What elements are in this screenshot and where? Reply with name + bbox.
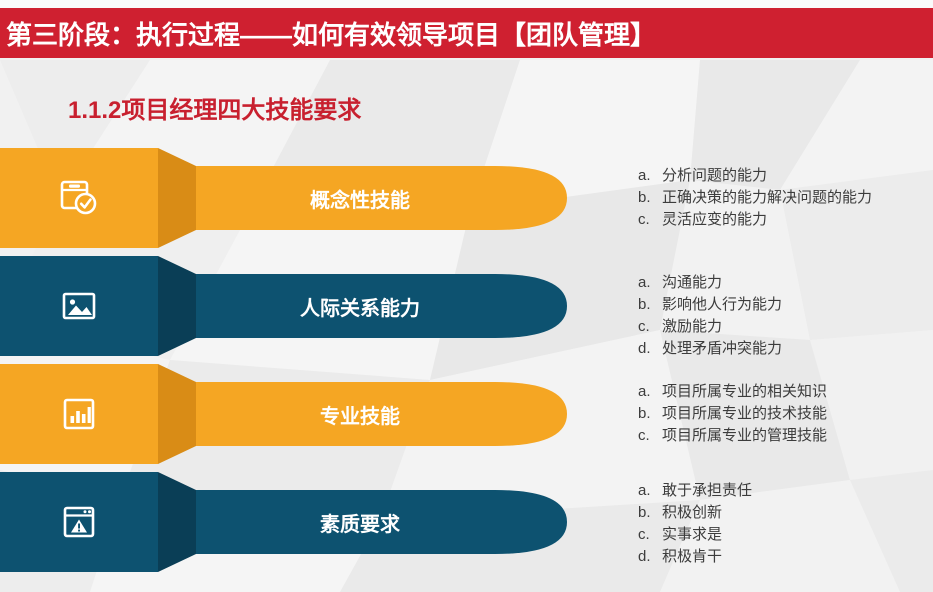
list-text: 影响他人行为能力 bbox=[662, 294, 782, 316]
bullet-list-conceptual: a. 分析问题的能力 b. 正确决策的能力解决问题的能力 c. 灵活应变的能力 bbox=[638, 165, 872, 231]
list-marker: b. bbox=[638, 403, 662, 425]
window-warning-icon bbox=[59, 502, 99, 542]
list-text: 积极创新 bbox=[662, 502, 722, 524]
list-item: b. 积极创新 bbox=[638, 502, 752, 524]
fold-professional bbox=[158, 364, 196, 464]
icon-block-interpersonal[interactable] bbox=[0, 256, 158, 356]
list-marker: c. bbox=[638, 316, 662, 338]
list-text: 沟通能力 bbox=[662, 272, 722, 294]
bullet-list-professional: a. 项目所属专业的相关知识 b. 项目所属专业的技术技能 c. 项目所属专业的… bbox=[638, 381, 827, 447]
list-marker: c. bbox=[638, 524, 662, 546]
sub-heading: 1.1.2项目经理四大技能要求 bbox=[68, 90, 361, 125]
icon-block-conceptual[interactable] bbox=[0, 148, 158, 248]
slide-canvas: 第三阶段：执行过程——如何有效领导项目【团队管理】 1.1.2项目经理四大技能要… bbox=[0, 0, 933, 592]
list-item: b. 影响他人行为能力 bbox=[638, 294, 782, 316]
list-text: 实事求是 bbox=[662, 524, 722, 546]
list-marker: b. bbox=[638, 502, 662, 524]
list-text: 积极肯干 bbox=[662, 546, 722, 568]
list-text: 项目所属专业的技术技能 bbox=[662, 403, 827, 425]
list-marker: a. bbox=[638, 381, 662, 403]
icon-block-professional[interactable] bbox=[0, 364, 158, 464]
list-text: 项目所属专业的相关知识 bbox=[662, 381, 827, 403]
list-marker: a. bbox=[638, 480, 662, 502]
list-item: c. 项目所属专业的管理技能 bbox=[638, 425, 827, 447]
list-item: a. 敢于承担责任 bbox=[638, 480, 752, 502]
skill-label-interpersonal: 人际关系能力 bbox=[195, 274, 525, 338]
list-marker: b. bbox=[638, 294, 662, 316]
list-text: 正确决策的能力解决问题的能力 bbox=[662, 187, 872, 209]
list-text: 激励能力 bbox=[662, 316, 722, 338]
bullet-list-interpersonal: a. 沟通能力 b. 影响他人行为能力 c. 激励能力 d. 处理矛盾冲突能力 bbox=[638, 272, 782, 360]
list-item: c. 灵活应变的能力 bbox=[638, 209, 872, 231]
skill-label-conceptual: 概念性技能 bbox=[195, 166, 525, 230]
list-marker: d. bbox=[638, 546, 662, 568]
list-item: a. 沟通能力 bbox=[638, 272, 782, 294]
image-picture-icon bbox=[59, 286, 99, 326]
bullet-list-quality: a. 敢于承担责任 b. 积极创新 c. 实事求是 d. 积极肯干 bbox=[638, 480, 752, 568]
list-item: c. 实事求是 bbox=[638, 524, 752, 546]
list-item: b. 正确决策的能力解决问题的能力 bbox=[638, 187, 872, 209]
bar-chart-icon bbox=[59, 394, 99, 434]
document-clock-icon bbox=[59, 178, 99, 218]
list-text: 敢于承担责任 bbox=[662, 480, 752, 502]
fold-conceptual bbox=[158, 148, 196, 248]
fold-interpersonal bbox=[158, 256, 196, 356]
list-text: 处理矛盾冲突能力 bbox=[662, 338, 782, 360]
list-marker: a. bbox=[638, 272, 662, 294]
list-text: 项目所属专业的管理技能 bbox=[662, 425, 827, 447]
list-marker: b. bbox=[638, 187, 662, 209]
list-text: 灵活应变的能力 bbox=[662, 209, 767, 231]
skill-label-professional: 专业技能 bbox=[195, 382, 525, 446]
list-text: 分析问题的能力 bbox=[662, 165, 767, 187]
list-item: d. 积极肯干 bbox=[638, 546, 752, 568]
list-item: c. 激励能力 bbox=[638, 316, 782, 338]
list-item: a. 项目所属专业的相关知识 bbox=[638, 381, 827, 403]
list-marker: a. bbox=[638, 165, 662, 187]
icon-block-quality[interactable] bbox=[0, 472, 158, 572]
title-banner: 第三阶段：执行过程——如何有效领导项目【团队管理】 bbox=[0, 8, 933, 58]
fold-quality bbox=[158, 472, 196, 572]
list-marker: c. bbox=[638, 209, 662, 231]
list-item: d. 处理矛盾冲突能力 bbox=[638, 338, 782, 360]
list-item: b. 项目所属专业的技术技能 bbox=[638, 403, 827, 425]
skill-label-quality: 素质要求 bbox=[195, 490, 525, 554]
list-marker: d. bbox=[638, 338, 662, 360]
list-item: a. 分析问题的能力 bbox=[638, 165, 872, 187]
page-title: 第三阶段：执行过程——如何有效领导项目【团队管理】 bbox=[0, 15, 656, 52]
list-marker: c. bbox=[638, 425, 662, 447]
